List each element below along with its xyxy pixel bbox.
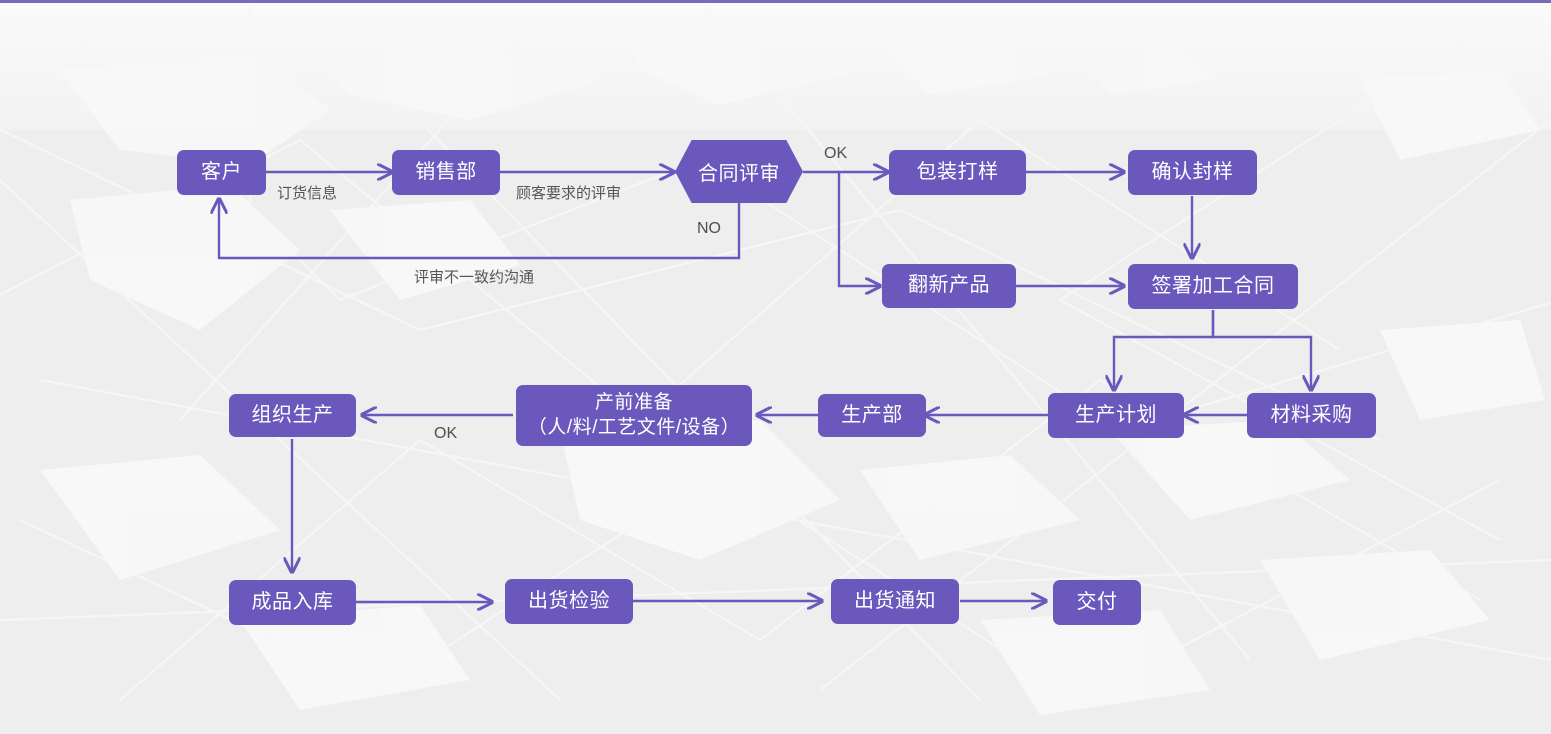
node-shipment-inspection[interactable]: 出货检验: [505, 579, 633, 624]
node-delivery[interactable]: 交付: [1053, 580, 1141, 625]
node-sign-processing-contract[interactable]: 签署加工合同: [1128, 264, 1298, 309]
node-material-purchase[interactable]: 材料采购: [1247, 393, 1376, 438]
pre-production-title: 产前准备: [595, 391, 673, 415]
pre-production-detail: （人/料/工艺文件/设备）: [528, 416, 740, 440]
node-customer[interactable]: 客户: [177, 150, 266, 195]
edge-label-order-info: 订货信息: [277, 182, 337, 203]
node-production-dept[interactable]: 生产部: [818, 394, 926, 437]
node-sales-dept[interactable]: 销售部: [392, 150, 500, 195]
edge-sign-to-purchase: [1213, 310, 1311, 390]
node-confirm-seal-sample[interactable]: 确认封样: [1128, 150, 1257, 195]
node-organize-production[interactable]: 组织生产: [229, 394, 356, 437]
node-shipment-notice[interactable]: 出货通知: [831, 579, 959, 624]
node-pre-production-preparation[interactable]: 产前准备 （人/料/工艺文件/设备）: [516, 385, 752, 446]
edge-label-review-ok: OK: [824, 145, 847, 163]
flowchart-canvas: 客户 销售部 合同评审 包装打样 确认封样 翻新产品 签署加工合同 生产计划 材…: [0, 0, 1551, 734]
edge-review-no-to-customer: [219, 199, 739, 258]
top-accent-rule: [0, 0, 1551, 3]
node-finished-goods-warehousing[interactable]: 成品入库: [229, 580, 356, 625]
edge-label-review-mismatch-communication: 评审不一致约沟通: [414, 266, 534, 287]
node-production-plan[interactable]: 生产计划: [1048, 393, 1184, 438]
edge-sign-to-plan: [1114, 310, 1213, 390]
node-contract-review[interactable]: 合同评审: [675, 140, 803, 203]
node-packaging-sample[interactable]: 包装打样: [889, 150, 1026, 195]
edge-label-pre-production-ok: OK: [434, 425, 457, 443]
edge-label-review-no: NO: [697, 220, 721, 238]
node-refurbish-product[interactable]: 翻新产品: [882, 264, 1016, 308]
edge-review-ok-to-refurbish: [839, 172, 880, 286]
edge-label-customer-requirement-review: 顾客要求的评审: [516, 182, 621, 203]
